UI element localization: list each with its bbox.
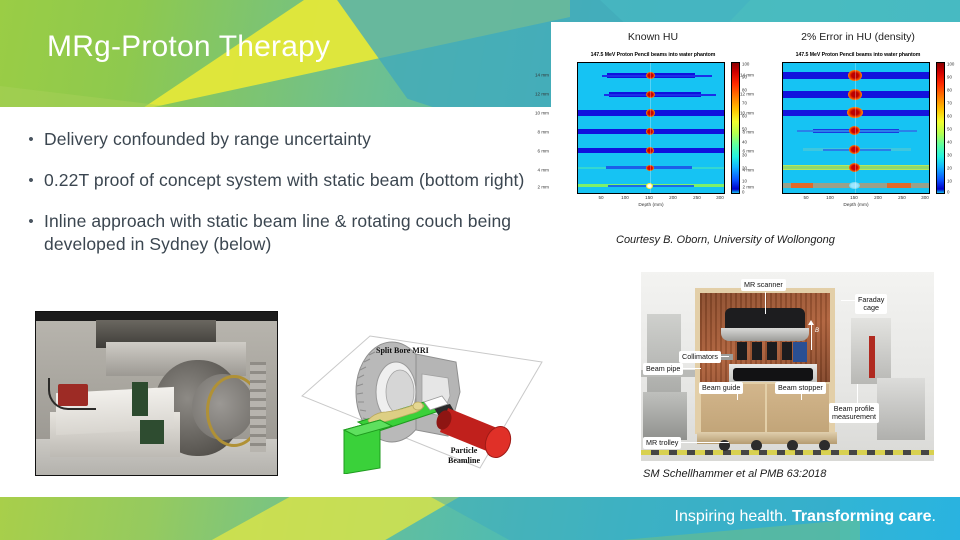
photo-cable <box>48 378 96 410</box>
list-item: • 0.22T proof of concept system with sta… <box>18 169 538 192</box>
footer-tagline: Inspiring health. Transforming care. <box>675 508 936 526</box>
hu-xtick: 150 <box>645 195 653 200</box>
hu-ytick: 2 mm <box>743 185 754 190</box>
hu-ytick: 10 mm <box>740 111 754 116</box>
bullet-marker-icon: • <box>18 169 44 192</box>
leader-mr-scanner <box>765 292 766 314</box>
label-collimators: Collimators <box>679 351 721 363</box>
label-beam-stopper: Beam stopper <box>775 382 826 394</box>
figure-caption-hu: Courtesy B. Oborn, University of Wollong… <box>616 234 835 246</box>
hu-xtick: 250 <box>898 195 906 200</box>
page-title: MRg-Proton Therapy <box>47 30 330 64</box>
hu-panel-known: Known HU 147.5 MeV Proton Pencil beams i… <box>551 22 755 230</box>
list-item: • Inline approach with static beam line … <box>18 210 538 256</box>
hu-panel-heading: 2% Error in HU (density) <box>756 31 960 43</box>
hu-cbar-tick: 80 <box>947 88 952 93</box>
mr-scanner-body <box>721 328 809 341</box>
figure-hu-comparison: Known HU 147.5 MeV Proton Pencil beams i… <box>551 22 960 230</box>
hu-ytick: 4 mm <box>538 168 549 173</box>
hu-cbar-tick: 90 <box>947 75 952 80</box>
hu-x-axis-title: Depth (mm) <box>782 203 930 208</box>
hu-x-axis-title: Depth (mm) <box>577 203 725 208</box>
hu-ytick: 2 mm <box>538 185 549 190</box>
leader-mr-trolley <box>677 442 729 443</box>
hu-plot-area <box>782 62 930 194</box>
hu-y-axis-labels: 14 mm 12 mm 10 mm 8 mm 6 mm 4 mm 2 mm <box>527 62 551 194</box>
diagram-label-particle-beamline: Particle Beamline <box>448 446 480 466</box>
hu-heatmap-error <box>782 62 930 194</box>
hu-panel-error: 2% Error in HU (density) 147.5 MeV Proto… <box>756 22 960 230</box>
photo-ladder <box>250 362 266 452</box>
hu-xtick: 300 <box>716 195 724 200</box>
bullet-text: Delivery confounded by range uncertainty <box>44 128 371 151</box>
bullet-text: Inline approach with static beam line & … <box>44 210 538 256</box>
footer-tagline-normal: Inspiring health. <box>675 508 792 525</box>
bullet-list: • Delivery confounded by range uncertain… <box>18 128 538 274</box>
hu-xtick: 50 <box>803 195 808 200</box>
diagram-label-beamline: Beamline <box>448 456 480 465</box>
mr-left-equipment-lower <box>643 392 687 440</box>
hu-xtick: 100 <box>621 195 629 200</box>
hu-panel-heading: Known HU <box>551 31 755 43</box>
label-faraday-cage: Faraday cage <box>855 294 887 314</box>
mr-left-equipment <box>647 314 681 398</box>
mr-crate-divider <box>765 384 767 432</box>
hu-ytick: 12 mm <box>740 92 754 97</box>
label-beam-guide: Beam guide <box>699 382 743 394</box>
hu-ytick: 8 mm <box>538 130 549 135</box>
mr-dark-blocks <box>737 342 793 360</box>
hu-cbar-tick: 40 <box>947 140 952 145</box>
diagram-split-bore-mri: Split Bore MRI Particle Beamline <box>290 300 552 482</box>
hu-ytick: 6 mm <box>743 149 754 154</box>
magnetic-field-arrow-icon <box>811 324 812 350</box>
diagram-canvas <box>296 318 546 474</box>
hu-chart-title: 147.5 MeV Proton Pencil beams into water… <box>551 52 755 58</box>
hu-colorbar <box>936 62 945 194</box>
hu-y-axis-labels: 14 mm 12 mm 10 mm 8 mm 6 mm 4 mm 2 mm <box>732 62 756 194</box>
label-beam-profile-line2: measurement <box>832 412 876 421</box>
hu-cbar-tick: 30 <box>947 153 952 158</box>
hu-xtick: 200 <box>669 195 677 200</box>
hu-chart-title: 147.5 MeV Proton Pencil beams into water… <box>756 52 960 58</box>
mr-right-cart <box>877 378 925 440</box>
hu-cbar-tick: 100 <box>947 62 954 67</box>
bullet-marker-icon: • <box>18 210 44 256</box>
hu-ytick: 14 mm <box>740 73 754 78</box>
hu-xtick: 300 <box>921 195 929 200</box>
hu-ytick: 6 mm <box>538 149 549 154</box>
hu-xtick: 50 <box>598 195 603 200</box>
hu-ytick: 10 mm <box>535 111 549 116</box>
hu-ytick: 8 mm <box>743 130 754 135</box>
label-beam-profile-measurement: Beam profile measurement <box>829 403 879 423</box>
label-mr-scanner: MR scanner <box>741 279 786 291</box>
hu-colorbar-ticks: 100 90 80 70 60 50 40 30 20 10 0 <box>947 62 960 194</box>
hu-cbar-tick: 60 <box>947 114 952 119</box>
hu-cbar-tick: 0 <box>947 190 949 195</box>
hu-ytick: 14 mm <box>535 73 549 78</box>
leader-faraday-cage <box>841 300 855 301</box>
footer-tagline-tail: . <box>932 508 936 525</box>
hu-cbar-tick: 10 <box>947 179 952 184</box>
photo-mr-proton-system: B MR scanner Faraday cage Collimators Be… <box>641 272 934 461</box>
photo-green-module-2 <box>140 420 164 444</box>
hu-cbar-tick: 20 <box>947 166 952 171</box>
photo-green-module <box>132 382 148 416</box>
hu-xtick: 200 <box>874 195 882 200</box>
hu-xtick: 250 <box>693 195 701 200</box>
hu-cbar-tick: 70 <box>947 101 952 106</box>
label-faraday-line2: cage <box>863 303 879 312</box>
hu-xtick: 100 <box>826 195 834 200</box>
mr-right-red-strip <box>869 336 875 378</box>
mr-floor-hazard-line <box>641 450 934 455</box>
slide-footer-band: Inspiring health. Transforming care. <box>0 497 960 540</box>
footer-tagline-bold: Transforming care <box>792 508 932 525</box>
mr-blue-box <box>793 342 807 362</box>
hu-ytick: 4 mm <box>743 168 754 173</box>
label-mr-trolley: MR trolley <box>643 437 681 449</box>
magnetic-field-label: B <box>815 328 819 334</box>
figure-caption-photo: SM Schellhammer et al PMB 63:2018 <box>643 468 826 480</box>
hu-plot-area <box>577 62 725 194</box>
hu-heatmap-known <box>577 62 725 194</box>
diagram-label-split-bore-mri: Split Bore MRI <box>376 346 429 356</box>
diagram-svg <box>296 318 546 474</box>
bullet-text: 0.22T proof of concept system with stati… <box>44 169 524 192</box>
hu-cbar-tick: 50 <box>947 127 952 132</box>
diagram-label-particle: Particle <box>451 446 478 455</box>
slide: MRg-Proton Therapy • Delivery confounded… <box>0 0 960 540</box>
list-item: • Delivery confounded by range uncertain… <box>18 128 538 151</box>
mr-table-insert <box>733 368 813 381</box>
hu-ytick: 12 mm <box>535 92 549 97</box>
hu-xtick: 150 <box>850 195 858 200</box>
bullet-marker-icon: • <box>18 128 44 151</box>
photo-proton-gantry <box>35 311 278 476</box>
label-beam-pipe: Beam pipe <box>643 363 683 375</box>
